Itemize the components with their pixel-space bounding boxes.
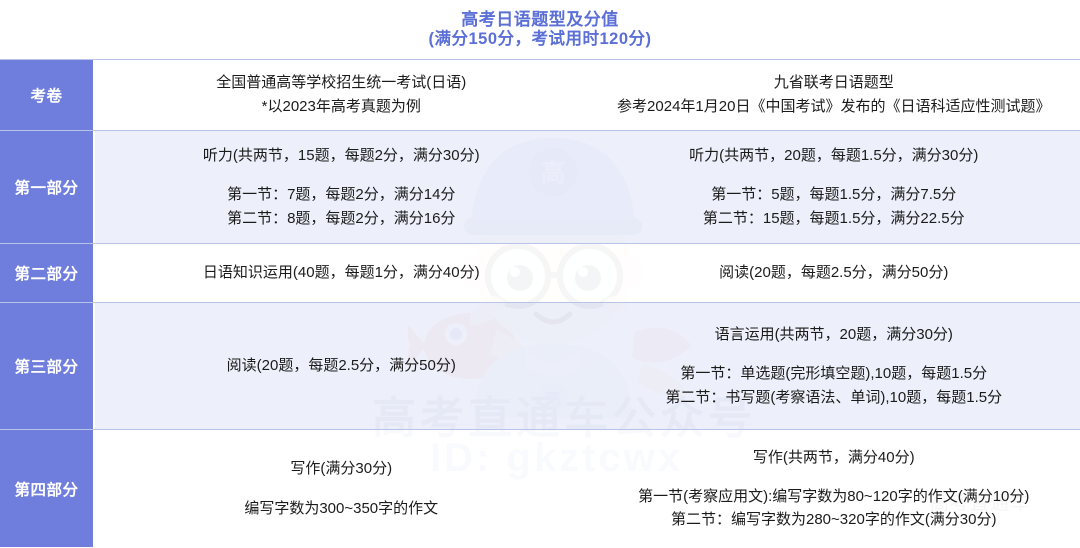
cell-part4-left: 写作(满分30分) 编写字数为300~350字的作文: [95, 430, 588, 547]
content-sheet: 高考日语题型及分值 (满分150分，考试用时120分) 考卷 全国普通高等学校招…: [0, 0, 1080, 548]
cell-line: 编写字数为300~350字的作文: [244, 497, 438, 520]
cell-sublines: 第一节：7题，每题2分，满分14分 第二节：8题，每题2分，满分16分: [227, 183, 455, 230]
page-title: 高考日语题型及分值 (满分150分，考试用时120分): [0, 0, 1080, 59]
cell-line: 参考2024年1月20日《中国考试》发布的《日语科适应性测试题》: [617, 95, 1050, 119]
cell-line: 语言运用(共两节，20题，满分30分): [715, 323, 953, 346]
cell-part1-left: 听力(共两节，15题，每题2分，满分30分) 第一节：7题，每题2分，满分14分…: [95, 131, 588, 243]
cell-part1-right: 听力(共两节，20题，每题1.5分，满分30分) 第一节：5题，每题1.5分，满…: [588, 131, 1080, 243]
cell-line: 阅读(20题，每题2.5分，满分50分): [719, 261, 948, 284]
cell-part3-right: 语言运用(共两节，20题，满分30分) 第一节：单选题(完形填空题),10题，每…: [588, 303, 1080, 429]
cell-sublines: 编写字数为300~350字的作文: [244, 497, 438, 520]
row-header-part1: 第一部分: [0, 131, 95, 243]
row-header-part3: 第三部分: [0, 303, 95, 429]
table-row: 第四部分 写作(满分30分) 编写字数为300~350字的作文 写作(共两节，满…: [0, 430, 1080, 547]
exam-structure-table: 考卷 全国普通高等学校招生统一考试(日语) *以2023年高考真题为例 九省联考…: [0, 59, 1080, 548]
cell-exam-right: 九省联考日语题型 参考2024年1月20日《中国考试》发布的《日语科适应性测试题…: [588, 60, 1080, 130]
cell-sublines: 第一节(考察应用文):编写字数为80~120字的作文(满分10分) 第二节：编写…: [638, 485, 1029, 532]
cell-part3-left: 阅读(20题，每题2.5分，满分50分): [95, 303, 588, 429]
cell-part2-left: 日语知识运用(40题，每题1分，满分40分): [95, 244, 588, 302]
cell-line: 阅读(20题，每题2.5分，满分50分): [227, 354, 456, 377]
cell-line: 听力(共两节，20题，每题1.5分，满分30分): [689, 144, 978, 167]
title-main-text: 高考日语题型及分值: [461, 10, 619, 30]
cell-line: 第二节：8题，每题2分，满分16分: [227, 207, 455, 230]
row-header-part4: 第四部分: [0, 430, 95, 547]
cell-sublines: 第一节：单选题(完形填空题),10题，每题1.5分 第二节：书写题(考察语法、单…: [665, 362, 1002, 409]
cell-line: 第二节：15题，每题1.5分，满分22.5分: [703, 207, 965, 230]
cell-part2-right: 阅读(20题，每题2.5分，满分50分): [588, 244, 1080, 302]
page-root: 高 高 高考直通车公众号: [0, 0, 1080, 548]
title-sub-text: (满分150分，考试用时120分): [428, 30, 651, 49]
cell-line: 全国普通高等学校招生统一考试(日语): [216, 71, 466, 95]
cell-line: 写作(满分30分): [290, 457, 392, 480]
cell-line: 第一节：5题，每题1.5分，满分7.5分: [711, 183, 956, 206]
cell-line: 第二节：书写题(考察语法、单词),10题，每题1.5分: [665, 386, 1002, 409]
cell-line: 写作(共两节，满分40分): [753, 446, 915, 469]
cell-line: 九省联考日语题型: [774, 71, 894, 95]
cell-line: 第一节(考察应用文):编写字数为80~120字的作文(满分10分): [638, 485, 1029, 508]
row-header-part2: 第二部分: [0, 244, 95, 302]
table-row: 第二部分 日语知识运用(40题，每题1分，满分40分) 阅读(20题，每题2.5…: [0, 244, 1080, 303]
cell-line: *以2023年高考真题为例: [262, 95, 421, 119]
cell-line: 日语知识运用(40题，每题1分，满分40分): [203, 261, 480, 284]
cell-line: 第二节：编写字数为280~320字的作文(满分30分): [671, 508, 997, 531]
cell-part4-right: 写作(共两节，满分40分) 第一节(考察应用文):编写字数为80~120字的作文…: [588, 430, 1080, 547]
cell-sublines: 第一节：5题，每题1.5分，满分7.5分 第二节：15题，每题1.5分，满分22…: [703, 183, 965, 230]
table-row: 第三部分 阅读(20题，每题2.5分，满分50分) 语言运用(共两节，20题，满…: [0, 303, 1080, 430]
cell-line: 听力(共两节，15题，每题2分，满分30分): [203, 144, 480, 167]
table-row: 第一部分 听力(共两节，15题，每题2分，满分30分) 第一节：7题，每题2分，…: [0, 131, 1080, 244]
cell-exam-left: 全国普通高等学校招生统一考试(日语) *以2023年高考真题为例: [95, 60, 588, 130]
row-header-exam: 考卷: [0, 60, 95, 130]
cell-line: 第一节：单选题(完形填空题),10题，每题1.5分: [680, 362, 987, 385]
table-row: 考卷 全国普通高等学校招生统一考试(日语) *以2023年高考真题为例 九省联考…: [0, 60, 1080, 131]
cell-line: 第一节：7题，每题2分，满分14分: [227, 183, 455, 206]
